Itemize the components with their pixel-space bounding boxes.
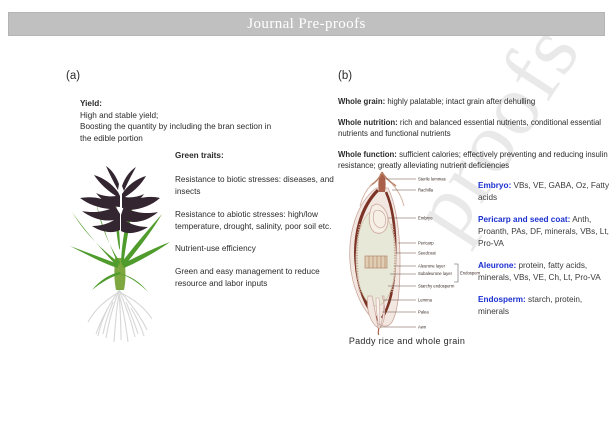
label-awn: Awn: [418, 325, 427, 330]
green-traits-block: Green traits: Resistance to biotic stres…: [175, 150, 340, 301]
label-embryo: Embryo: [418, 216, 433, 221]
nutrient-item: Aleurone: protein, fatty acids, minerals…: [478, 260, 610, 284]
label-starchy-endosperm: Starchy endosperm: [418, 284, 455, 289]
label-palea: Palea: [418, 310, 429, 315]
statement-heading: Whole nutrition:: [338, 118, 398, 127]
green-trait-item: Nutrient-use efficiency: [175, 243, 340, 255]
panel-b: (b) Whole grain: highly palatable; intac…: [330, 70, 610, 410]
label-aleurone-layer: Aleurone layer: [418, 264, 446, 269]
label-endosperm-bracket: Endosperm: [460, 271, 480, 276]
yield-line-1: High and stable yield;: [80, 111, 158, 120]
panel-a-label: (a): [66, 70, 80, 82]
green-trait-item: Green and easy management to reduce reso…: [175, 266, 340, 290]
green-trait-item: Resistance to biotic stresses: diseases,…: [175, 174, 340, 198]
diagram-labels: Sterile lemmas Rachilla Embryo Pericarp …: [418, 177, 480, 330]
statement-row: Whole nutrition: rich and balanced essen…: [338, 117, 610, 140]
grain-body: [350, 172, 404, 335]
label-sterile-lemmas: Sterile lemmas: [418, 177, 446, 182]
label-rachilla: Rachilla: [418, 188, 434, 193]
rice-plant-illustration: [58, 162, 180, 347]
nutrient-heading: Embryo:: [478, 181, 511, 190]
header-title: Journal Pre-proofs: [247, 16, 365, 33]
nutrient-heading: Pericarp and seed coat:: [478, 215, 570, 224]
figure-page: proofs Journal Pre-proofs (a) Yield: Hig…: [0, 0, 616, 428]
label-pericarp: Pericarp: [418, 241, 434, 246]
nutrient-heading: Endosperm:: [478, 295, 526, 304]
starchy-endosperm-hatch: [365, 256, 387, 268]
rice-roots: [88, 290, 152, 342]
statement-heading: Whole grain:: [338, 97, 385, 106]
whole-grain-statements: Whole grain: highly palatable; intact gr…: [338, 96, 610, 181]
yield-heading: Yield:: [80, 98, 330, 110]
green-traits-heading: Green traits:: [175, 150, 340, 162]
journal-preproofs-header: Journal Pre-proofs: [8, 12, 605, 36]
rice-panicles: [80, 166, 160, 233]
yield-line-2: Boosting the quantity by including the b…: [80, 122, 271, 131]
yield-line-3: the edible portion: [80, 134, 143, 143]
nutrient-heading: Aleurone:: [478, 261, 516, 270]
nutrient-composition-list: Embryo: VBs, VE, GABA, Oz, Fatty acids P…: [478, 180, 610, 328]
rice-grain-cross-section: Sterile lemmas Rachilla Embryo Pericarp …: [332, 170, 480, 335]
panel-a: (a) Yield: High and stable yield; Boosti…: [60, 70, 340, 410]
statement-heading: Whole function:: [338, 150, 397, 159]
label-subaleurone-layer: Subaleurone layer: [418, 271, 453, 276]
nutrient-item: Pericarp and seed coat: Anth, Proanth, P…: [478, 214, 610, 250]
label-lemma: Lemma: [418, 298, 433, 303]
statement-row: Whole function: sufficient calories; eff…: [338, 149, 610, 172]
grain-diagram-caption: Paddy rice and whole grain: [334, 336, 480, 346]
statement-row: Whole grain: highly palatable; intact gr…: [338, 96, 610, 108]
green-trait-item: Resistance to abiotic stresses: high/low…: [175, 209, 340, 233]
nutrient-item: Endosperm: starch, protein, minerals: [478, 294, 610, 318]
statement-body: highly palatable; intact grain after deh…: [385, 97, 535, 106]
panel-b-label: (b): [338, 70, 352, 82]
yield-text-block: Yield: High and stable yield; Boosting t…: [80, 98, 330, 145]
label-seedcoat: Seedcoat: [418, 251, 437, 256]
nutrient-item: Embryo: VBs, VE, GABA, Oz, Fatty acids: [478, 180, 610, 204]
